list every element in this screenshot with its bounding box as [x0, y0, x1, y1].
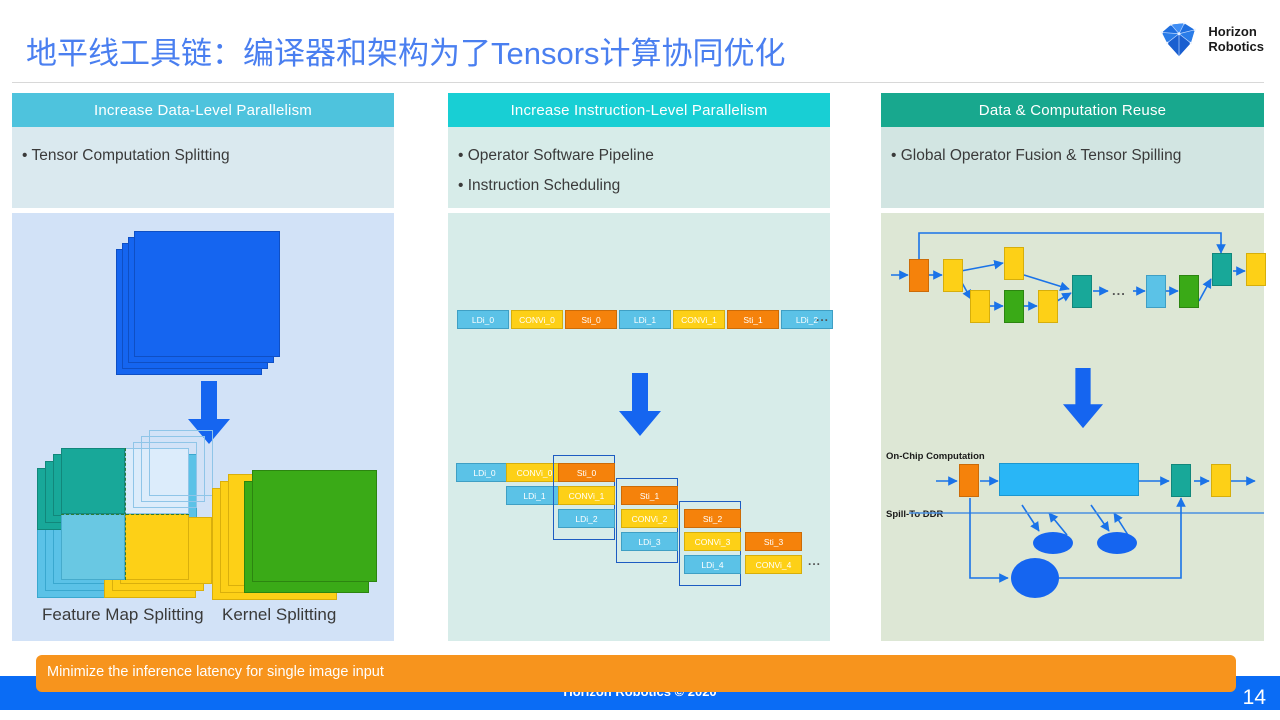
column-1-diagram: Feature Map Splitting Kernel Splitting	[12, 213, 394, 641]
split-quadrant-yellow	[125, 514, 189, 580]
bullet-item: • Instruction Scheduling	[458, 171, 820, 201]
pipe-block-sti3: Sti_3	[745, 532, 802, 551]
pipe-block-sti0: Sti_0	[558, 463, 615, 482]
slide-root: 地平线工具链：编译器和架构为了Tensors计算协同优化 Horizon Rob…	[0, 0, 1280, 720]
staggered-pipeline-ellipsis: ...	[808, 554, 821, 568]
feature-map-stack-layer-1	[134, 231, 280, 357]
caption-feature-map-splitting: Feature Map Splitting	[42, 605, 204, 625]
column-2-bullets: • Operator Software Pipeline • Instructi…	[448, 127, 830, 208]
pipe-block-sti2: Sti_2	[684, 509, 741, 528]
column-2-diagram: LDi_0 CONVi_0 Sti_0 LDi_1 CONVi_1 Sti_1 …	[448, 213, 830, 641]
column-3-bullets: • Global Operator Fusion & Tensor Spilli…	[881, 127, 1264, 208]
pipe-block-ldi0: LDi_0	[456, 463, 513, 482]
page-number: 14	[1243, 686, 1266, 710]
instr-block-convi1: CONVi_1	[673, 310, 725, 329]
column-1-bullets: • Tensor Computation Splitting	[12, 127, 394, 208]
pipe-block-ldi2: LDi_2	[558, 509, 615, 528]
page-title: 地平线工具链：编译器和架构为了Tensors计算协同优化	[26, 28, 786, 73]
instr-block-sti1: Sti_1	[727, 310, 779, 329]
pipe-block-convi1: CONVi_1	[558, 486, 615, 505]
brand-logo: Horizon Robotics	[1158, 18, 1264, 60]
logo-text: Horizon Robotics	[1208, 24, 1264, 54]
pipe-block-convi3: CONVi_3	[684, 532, 741, 551]
ddr-spill-ellipse-main	[1011, 558, 1059, 598]
onchip-spill-arrows	[881, 213, 1264, 641]
instr-block-ldi1: LDi_1	[619, 310, 671, 329]
split-nested-outline-3	[149, 430, 213, 496]
summary-banner-text: Minimize the inference latency for singl…	[47, 664, 384, 680]
title-divider	[12, 82, 1264, 83]
onchip-node-conv	[1211, 464, 1231, 497]
down-arrow-icon	[615, 373, 665, 438]
pipe-block-ldi4: LDi_4	[684, 555, 741, 574]
ddr-buffer-ellipse-2	[1097, 532, 1137, 554]
column-3-diagram: ... On-Chip Computation Spill-To DDR	[881, 213, 1264, 641]
bullet-item: • Tensor Computation Splitting	[22, 141, 384, 171]
instr-block-convi0: CONVi_0	[511, 310, 563, 329]
onchip-fused-operator-block	[999, 463, 1139, 496]
instr-block-ldi0: LDi_0	[457, 310, 509, 329]
ddr-buffer-ellipse-1	[1033, 532, 1073, 554]
onchip-node-store	[959, 464, 979, 497]
bullet-item: • Operator Software Pipeline	[458, 141, 820, 171]
split-quadrant-teal	[61, 448, 125, 514]
caption-kernel-splitting: Kernel Splitting	[222, 605, 336, 625]
column-3-header: Data & Computation Reuse	[881, 93, 1264, 127]
column-instruction-level-parallelism: Increase Instruction-Level Parallelism •…	[448, 93, 830, 641]
column-data-level-parallelism: Increase Data-Level Parallelism • Tensor…	[12, 93, 394, 641]
onchip-node-teal	[1171, 464, 1191, 497]
logo-text-line1: Horizon	[1208, 24, 1264, 39]
pipe-block-ldi3: LDi_3	[621, 532, 678, 551]
horizon-brain-logo-icon	[1158, 18, 1200, 60]
bullet-item: • Global Operator Fusion & Tensor Spilli…	[891, 141, 1254, 171]
split-quadrant-lightblue	[61, 514, 125, 580]
instr-block-sti0: Sti_0	[565, 310, 617, 329]
column-2-header: Increase Instruction-Level Parallelism	[448, 93, 830, 127]
pipe-block-convi4: CONVi_4	[745, 555, 802, 574]
serial-pipeline-ellipsis: ...	[816, 310, 829, 324]
split-dashed-horizontal	[61, 514, 189, 515]
pipe-block-sti1: Sti_1	[621, 486, 678, 505]
column-1-header: Increase Data-Level Parallelism	[12, 93, 394, 127]
kernel-green-main	[252, 470, 377, 582]
logo-text-line2: Robotics	[1208, 39, 1264, 54]
pipe-block-convi2: CONVi_2	[621, 509, 678, 528]
column-data-computation-reuse: Data & Computation Reuse • Global Operat…	[881, 93, 1264, 641]
